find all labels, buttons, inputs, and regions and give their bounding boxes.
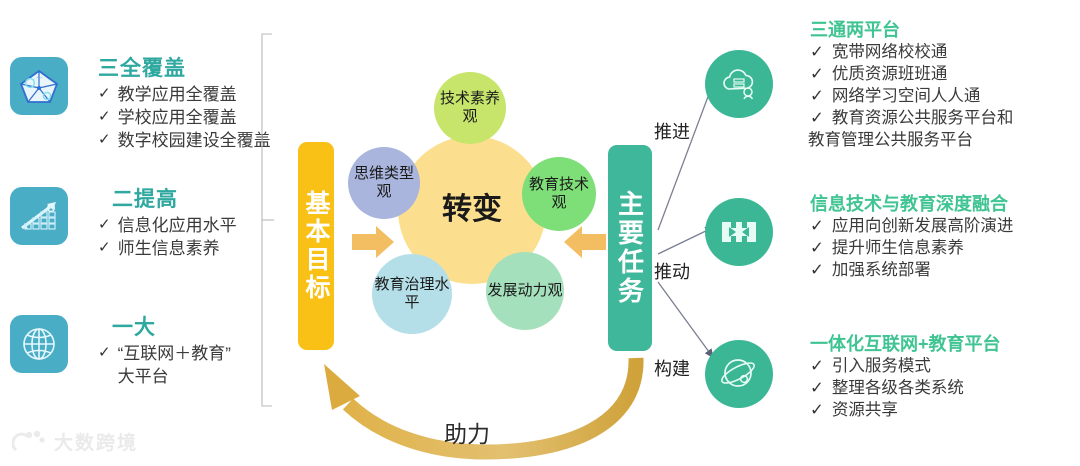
- right-block-heading-1: 三通两平台: [810, 16, 900, 42]
- satellite-label: 教育技术观: [522, 176, 596, 213]
- connector-label-2: 推动: [654, 258, 690, 284]
- check-icon: ✓: [810, 108, 824, 130]
- list-item-label: 宽带网络校校通: [832, 42, 948, 64]
- satellite-label: 教育治理水平: [372, 276, 452, 313]
- right-block-heading-3: 一体化互联网+教育平台: [810, 330, 1001, 356]
- watermark-text: 大数跨境: [54, 428, 138, 455]
- satellite-circle-4: 教育治理水平: [372, 254, 452, 334]
- left-block-list-3: ✓ “互联网＋教育” 大平台: [98, 343, 231, 389]
- check-icon: ✓: [98, 215, 111, 235]
- list-item: ✓ 宽带网络校校通: [810, 42, 1013, 64]
- list-item: ✓ 学校应用全覆盖: [98, 107, 271, 130]
- check-icon: ✓: [810, 378, 824, 400]
- list-item-label: 优质资源班班通: [832, 64, 948, 86]
- left-block-heading-1: 三全覆盖: [98, 52, 186, 82]
- list-item: ✓ 资源共享: [810, 400, 964, 422]
- right-block-heading-2: 信息技术与教育深度融合: [810, 190, 1008, 216]
- satellite-circle-3: 教育技术观: [522, 157, 596, 231]
- feedback-arc-icon: [290, 352, 700, 460]
- list-item: ✓ 整理各级各类系统: [810, 378, 964, 400]
- check-icon: ✓: [98, 107, 111, 127]
- list-item-label: 资源共享: [832, 400, 898, 422]
- list-item: ✓ 数字校园建设全覆盖: [98, 130, 271, 153]
- list-item-label: 信息化应用水平: [118, 215, 237, 238]
- left-group-bracket: [258, 32, 284, 410]
- list-item-label: 引入服务模式: [832, 356, 931, 378]
- list-item-label: 加强系统部署: [832, 260, 931, 282]
- check-icon: ✓: [810, 238, 824, 260]
- list-item-label: 网络学习空间人人通: [832, 86, 981, 108]
- check-icon: ✓: [810, 260, 824, 282]
- satellite-circle-1: 技术素养观: [434, 72, 506, 144]
- satellite-label: 思维类型观: [348, 165, 420, 202]
- check-icon: ✓: [810, 400, 824, 422]
- list-item: ✓ 提升师生信息素养: [810, 238, 1013, 260]
- outflow-arrow-icon: [562, 224, 606, 260]
- check-icon: ✓: [810, 64, 824, 86]
- list-item: ✓ 教学应用全覆盖: [98, 84, 271, 107]
- task-bar: 主要任务: [608, 145, 652, 351]
- satellite-circle-2: 思维类型观: [348, 147, 420, 219]
- paw-logo-icon: [12, 430, 46, 454]
- list-item: ✓ 优质资源班班通: [810, 64, 1013, 86]
- watermark: 大数跨境: [12, 428, 138, 455]
- check-icon: ✓: [810, 42, 824, 64]
- list-item-label: 师生信息素养: [118, 238, 220, 261]
- list-item: ✓ 信息化应用水平: [98, 215, 237, 238]
- list-item-label: 应用向创新发展高阶演进: [832, 216, 1014, 238]
- list-item: ✓ 应用向创新发展高阶演进: [810, 216, 1013, 238]
- list-item: ✓ “互联网＋教育” 大平台: [98, 343, 231, 389]
- check-icon: ✓: [810, 86, 824, 108]
- list-item: ✓ 教育资源公共服务平台和: [810, 108, 1013, 130]
- check-icon: ✓: [98, 130, 111, 150]
- check-icon: ✓: [810, 356, 824, 378]
- check-icon: ✓: [810, 216, 824, 238]
- left-block-list-1: ✓ 教学应用全覆盖 ✓ 学校应用全覆盖 ✓ 数字校园建设全覆盖: [98, 84, 271, 152]
- pentagon-network-icon: [10, 57, 68, 115]
- list-item-label: 提升师生信息素养: [832, 238, 964, 260]
- integration-arrows-icon: [705, 198, 773, 266]
- left-block-heading-2: 二提高: [112, 183, 178, 213]
- list-item-label: “互联网＋教育”: [118, 343, 231, 366]
- goal-bar: 基本目标: [298, 142, 334, 350]
- list-item-label: 数字校园建设全覆盖: [118, 130, 271, 153]
- check-icon: ✓: [98, 343, 111, 363]
- right-block-list-1: ✓ 宽带网络校校通 ✓ 优质资源班班通 ✓ 网络学习空间人人通 ✓ 教育资源公共…: [810, 42, 1013, 152]
- list-item: ✓ 加强系统部署: [810, 260, 1013, 282]
- arc-label: 助力: [444, 415, 490, 449]
- globe-icon: [10, 315, 68, 373]
- satellite-circle-5: 发展动力观: [486, 252, 564, 330]
- list-item-label-cont: 大平台: [118, 366, 231, 389]
- list-item-label: 整理各级各类系统: [832, 378, 964, 400]
- list-item: ✓ 引入服务模式: [810, 356, 964, 378]
- list-item-label: 学校应用全覆盖: [118, 107, 237, 130]
- left-block-list-2: ✓ 信息化应用水平 ✓ 师生信息素养: [98, 215, 237, 261]
- check-icon: ✓: [98, 84, 111, 104]
- satellite-label: 技术素养观: [434, 90, 506, 127]
- right-block-list-2: ✓ 应用向创新发展高阶演进 ✓ 提升师生信息素养 ✓ 加强系统部署: [810, 216, 1013, 282]
- right-block-list-3: ✓ 引入服务模式 ✓ 整理各级各类系统 ✓ 资源共享: [810, 356, 964, 422]
- list-item-label: 教育资源公共服务平台和: [832, 108, 1014, 130]
- growth-arrow-icon: [10, 187, 68, 245]
- list-item: ✓ 网络学习空间人人通: [810, 86, 1013, 108]
- planet-icon: [705, 340, 773, 408]
- list-item-label: 教学应用全覆盖: [118, 84, 237, 107]
- connector-label-3: 构建: [654, 355, 690, 381]
- cloud-server-icon: [705, 50, 773, 118]
- check-icon: ✓: [98, 238, 111, 258]
- list-item-continuation: 教育管理公共服务平台: [808, 130, 1013, 152]
- list-item: ✓ 师生信息素养: [98, 238, 237, 261]
- satellite-label: 发展动力观: [487, 282, 562, 300]
- left-block-heading-3: 一大: [112, 311, 156, 341]
- connector-label-1: 推进: [654, 118, 690, 144]
- inflow-arrow-icon: [352, 224, 396, 260]
- infographic-canvas: 三全覆盖 ✓ 教学应用全覆盖 ✓ 学校应用全覆盖 ✓ 数字校园建设全覆盖: [0, 0, 1080, 466]
